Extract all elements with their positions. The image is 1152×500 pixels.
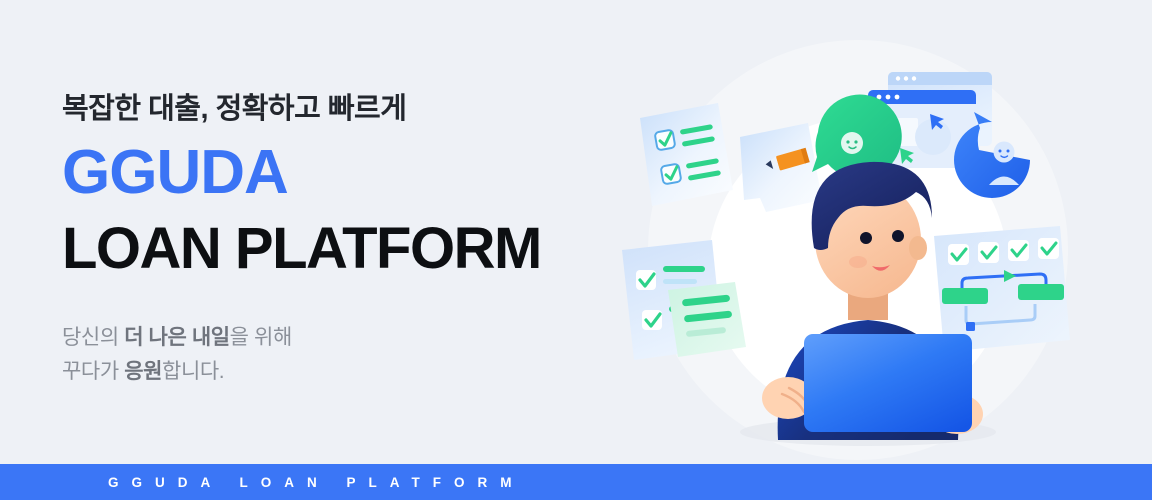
hero-banner: 복잡한 대출, 정확하고 빠르게 GGUDA LOAN PLATFORM 당신의… [0,0,1152,500]
laptop [804,334,972,432]
hero-copy-block: 복잡한 대출, 정확하고 빠르게 GGUDA LOAN PLATFORM 당신의… [62,92,622,390]
workflow-card-right [934,226,1070,352]
person-eye-right [892,230,904,242]
bottom-ticker-bar: GGUDA LOAN PLATFORM [0,464,1152,500]
person-cheek [849,256,867,268]
green-note-card [668,282,746,357]
hero-brand-title: GGUDA [62,141,622,204]
tagline-2-pre: 꾸다가 [62,360,124,383]
checklist-card-top-left [640,103,733,206]
hero-tagline: 당신의 더 나은 내일을 위해 꾸다가 응원합니다. [62,321,622,390]
avatar-head-green [841,132,863,154]
tagline-2-strong: 응원 [124,360,162,383]
person-ear [909,236,927,260]
tagline-1-pre: 당신의 [62,326,124,349]
hero-tagline-line-2: 꾸다가 응원합니다. [62,355,622,390]
avatar-head-blue [994,142,1015,163]
pencil-note-card [740,123,822,212]
hero-illustration [600,0,1152,464]
ticker-text: GGUDA LOAN PLATFORM [0,475,524,490]
hero-eyebrow: 복잡한 대출, 정확하고 빠르게 [62,92,622,127]
hero-product-title: LOAN PLATFORM [62,216,622,283]
tagline-1-strong: 더 나은 내일 [124,326,229,349]
hero-tagline-line-1: 당신의 더 나은 내일을 위해 [62,321,622,356]
tagline-2-post: 합니다. [162,360,224,383]
person-eye-left [860,232,872,244]
tagline-1-post: 을 위해 [230,326,292,349]
